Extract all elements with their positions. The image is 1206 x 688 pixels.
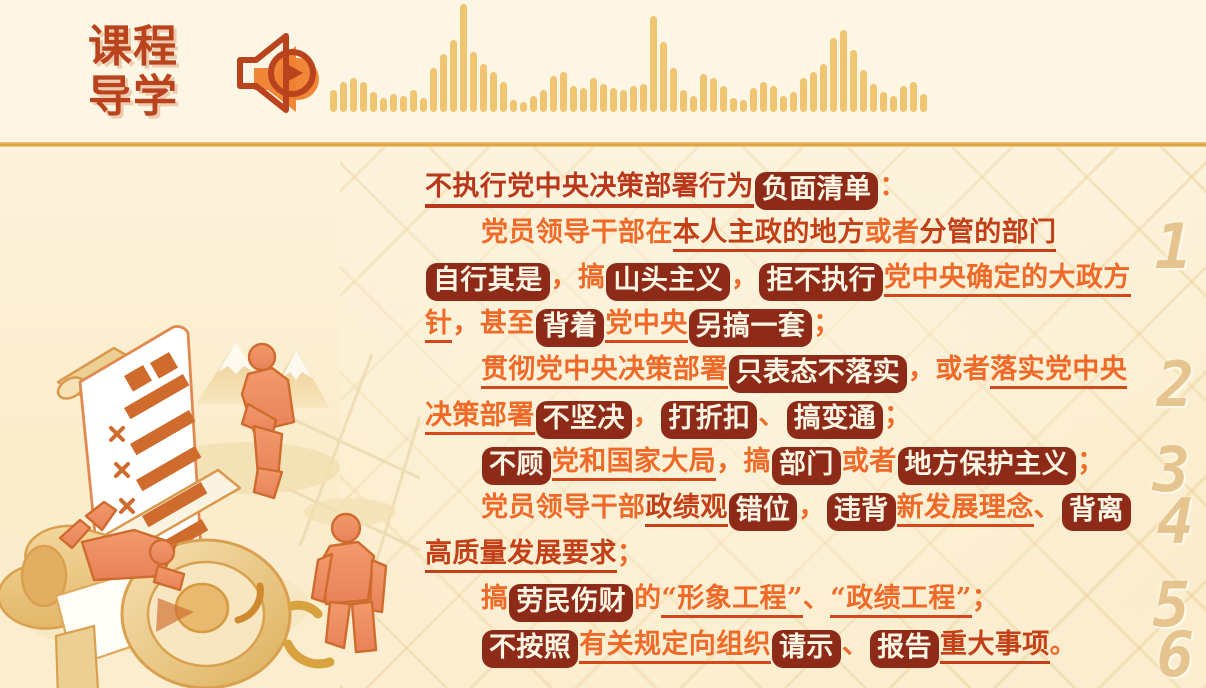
text-run: ， — [551, 262, 578, 293]
keyword-pill[interactable]: 不顾 — [482, 447, 551, 485]
waveform-bar — [580, 88, 587, 112]
text-run: ； — [813, 308, 840, 339]
waveform-bar — [420, 98, 427, 112]
keyword-pill[interactable]: 背离 — [1062, 493, 1131, 531]
keyword-pill[interactable]: 地方保护主义 — [898, 447, 1076, 485]
waveform-bar — [710, 78, 717, 112]
text-run: 分管的部门 — [919, 217, 1056, 252]
text-run: 、 — [803, 583, 830, 614]
header-divider — [0, 142, 1206, 147]
content-area: 不执行党中央决策部署行为负面清单： 党员领导干部在本人主政的地方或者分管的部门自… — [0, 146, 1206, 688]
audio-waveform — [330, 8, 1190, 112]
text-run: 搞 — [744, 446, 771, 477]
paragraph-2: 贯彻党中央决策部署只表态不落实，或者落实党中央决策部署不坚决，打折扣、搞变通； — [425, 347, 1140, 439]
waveform-bar — [450, 40, 457, 112]
text-run: 、 — [1034, 492, 1061, 523]
waveform-bar — [590, 78, 597, 112]
brand-line-2: 导学 — [88, 72, 210, 122]
paragraph-6: 不按照有关规定向组织请示、报告重大事项。 — [425, 622, 1140, 668]
keyword-pill[interactable]: 部门 — [772, 447, 841, 485]
text-run: 党员领导干部在 — [481, 217, 673, 248]
header-bar: 课程 导学 — [0, 0, 1206, 146]
text-run: 或者 — [865, 217, 920, 252]
waveform-bar — [470, 52, 477, 112]
waveform-bar — [720, 86, 727, 112]
poster-canvas: 课程 导学 — [0, 0, 1206, 688]
paragraph-list: 党员领导干部在本人主政的地方或者分管的部门自行其是，搞山头主义，拒不执行党中央确… — [425, 210, 1140, 668]
paragraph-4: 党员领导干部政绩观错位，违背新发展理念、背离高质量发展要求； — [425, 485, 1140, 576]
waveform-bar — [390, 94, 397, 112]
keyword-pill[interactable]: 打折扣 — [661, 401, 757, 439]
waveform-bar — [330, 90, 337, 112]
text-run: 或者 — [842, 446, 897, 477]
text-run: 。 — [1050, 629, 1077, 660]
keyword-pill[interactable]: 不坚决 — [536, 401, 632, 439]
keyword-pill[interactable]: 只表态不落实 — [729, 355, 907, 393]
keyword-pill[interactable]: 自行其是 — [426, 263, 550, 301]
text-run: 政绩观 — [645, 492, 727, 527]
waveform-bar — [460, 4, 467, 112]
waveform-bar — [630, 86, 637, 112]
waveform-bar — [690, 96, 697, 112]
waveform-bar — [480, 64, 487, 112]
text-run: 党和国家大局 — [552, 446, 716, 481]
step-number-2: 2 — [1157, 354, 1194, 416]
text-run: ， — [731, 262, 758, 293]
waveform-bar — [650, 16, 657, 112]
waveform-bar — [530, 96, 537, 112]
keyword-pill[interactable]: 山头主义 — [606, 263, 730, 301]
text-run: ； — [972, 583, 999, 614]
waveform-bar — [380, 98, 387, 112]
waveform-bar — [800, 78, 807, 112]
waveform-bar — [790, 92, 797, 112]
waveform-bar — [550, 76, 557, 112]
waveform-bar — [680, 90, 687, 112]
waveform-bar — [730, 98, 737, 112]
waveform-bar — [760, 82, 767, 112]
text-run: ； — [1077, 446, 1104, 477]
step-number-1: 1 — [1155, 216, 1192, 278]
waveform-bar — [540, 90, 547, 112]
waveform-bar — [900, 86, 907, 112]
text-run: ， — [908, 354, 935, 385]
text-run: ， — [633, 400, 660, 431]
brand-lockup: 课程 导学 — [88, 22, 210, 122]
waveform-bar — [830, 38, 837, 112]
text-run: 党中央 — [605, 308, 687, 343]
keyword-pill[interactable]: 违背 — [827, 493, 896, 531]
step-number-5: 5 — [1153, 574, 1190, 636]
waveform-bar — [370, 92, 377, 112]
text-run: 甚至 — [480, 308, 535, 339]
waveform-bar — [600, 84, 607, 112]
text-run: 党员领导干部 — [481, 492, 645, 523]
waveform-bar — [640, 84, 647, 112]
waveform-bar — [340, 82, 347, 112]
waveform-bar — [660, 42, 667, 112]
waveform-bar — [670, 68, 677, 112]
keyword-pill[interactable]: 请示 — [772, 630, 841, 668]
waveform-bar — [700, 74, 707, 112]
text-run: 、 — [842, 629, 869, 660]
text-run: ， — [452, 308, 479, 339]
keyword-pill[interactable]: 劳民伤财 — [509, 584, 633, 622]
paragraph-1: 党员领导干部在本人主政的地方或者分管的部门自行其是，搞山头主义，拒不执行党中央确… — [425, 210, 1140, 347]
keyword-pill[interactable]: 搞变通 — [787, 401, 883, 439]
paragraph-5: 搞劳民伤财的“形象工程”、“政绩工程”； — [425, 576, 1140, 622]
text-run: 本人主政的地方 — [673, 217, 865, 252]
text-run: 、 — [758, 400, 785, 431]
text-run: ， — [798, 492, 825, 523]
waveform-bar — [350, 78, 357, 112]
waveform-bar — [920, 94, 927, 112]
waveform-bar — [410, 90, 417, 112]
keyword-pill[interactable]: 不按照 — [482, 630, 578, 668]
text-run: 重大事项 — [940, 629, 1050, 664]
step-number-6: 6 — [1157, 624, 1194, 686]
text-run: “政绩工程” — [830, 583, 971, 618]
waveform-bar — [430, 68, 437, 112]
waveform-bar — [570, 86, 577, 112]
waveform-bar — [810, 72, 817, 112]
step-number-4: 4 — [1157, 491, 1194, 553]
waveform-bar — [400, 96, 407, 112]
text-run: 贯彻党中央决策部署 — [481, 354, 728, 389]
keyword-pill[interactable]: 错位 — [729, 493, 798, 531]
waveform-bar — [860, 70, 867, 112]
scroll-megaphone-illustration — [0, 146, 420, 688]
text-run: ； — [617, 538, 644, 569]
title-line: 不执行党中央决策部署行为负面清单： — [425, 164, 1140, 210]
text-run: 新发展理念 — [897, 492, 1034, 527]
paragraph-3: 不顾党和国家大局，搞部门或者地方保护主义； — [425, 439, 1140, 485]
text-run: 有关规定向组织 — [579, 629, 771, 664]
waveform-bar — [870, 84, 877, 112]
waveform-bar — [770, 86, 777, 112]
waveform-bar — [750, 88, 757, 112]
waveform-bar — [820, 64, 827, 112]
waveform-bar — [740, 100, 747, 112]
keyword-pill[interactable]: 背着 — [536, 309, 605, 347]
waveform-bar — [890, 96, 897, 112]
waveform-bar — [560, 72, 567, 112]
brand-line-1: 课程 — [88, 22, 210, 72]
waveform-bar — [520, 102, 527, 112]
step-number-3: 3 — [1153, 439, 1190, 501]
speaker-play-icon[interactable] — [228, 28, 320, 118]
waveform-bar — [440, 54, 447, 112]
waveform-bar — [610, 88, 617, 112]
title-heading: 不执行党中央决策部署行为 — [425, 171, 754, 208]
title-pill: 负面清单 — [755, 172, 879, 210]
waveform-bar — [490, 72, 497, 112]
negative-list-text: 不执行党中央决策部署行为负面清单： 党员领导干部在本人主政的地方或者分管的部门自… — [425, 164, 1140, 668]
keyword-pill[interactable]: 另搞一套 — [689, 309, 813, 347]
waveform-bar — [620, 90, 627, 112]
waveform-bar — [500, 82, 507, 112]
text-run: “形象工程” — [661, 583, 802, 618]
text-run: 搞 — [578, 262, 605, 293]
text-run: 搞 — [481, 583, 508, 614]
waveform-bar — [780, 96, 787, 112]
waveform-bar — [510, 100, 517, 112]
text-run: 高质量发展要求 — [425, 538, 617, 573]
text-run: ； — [884, 400, 911, 431]
title-colon: ： — [879, 171, 906, 202]
keyword-pill[interactable]: 报告 — [870, 630, 939, 668]
text-run: 的 — [634, 583, 661, 614]
text-run: ， — [716, 446, 743, 477]
waveform-bar — [910, 82, 917, 112]
text-run: 或者 — [935, 354, 990, 385]
waveform-bar — [360, 82, 367, 112]
waveform-bar — [880, 92, 887, 112]
keyword-pill[interactable]: 拒不执行 — [759, 263, 883, 301]
waveform-bar — [840, 30, 847, 112]
waveform-bar — [850, 50, 857, 112]
